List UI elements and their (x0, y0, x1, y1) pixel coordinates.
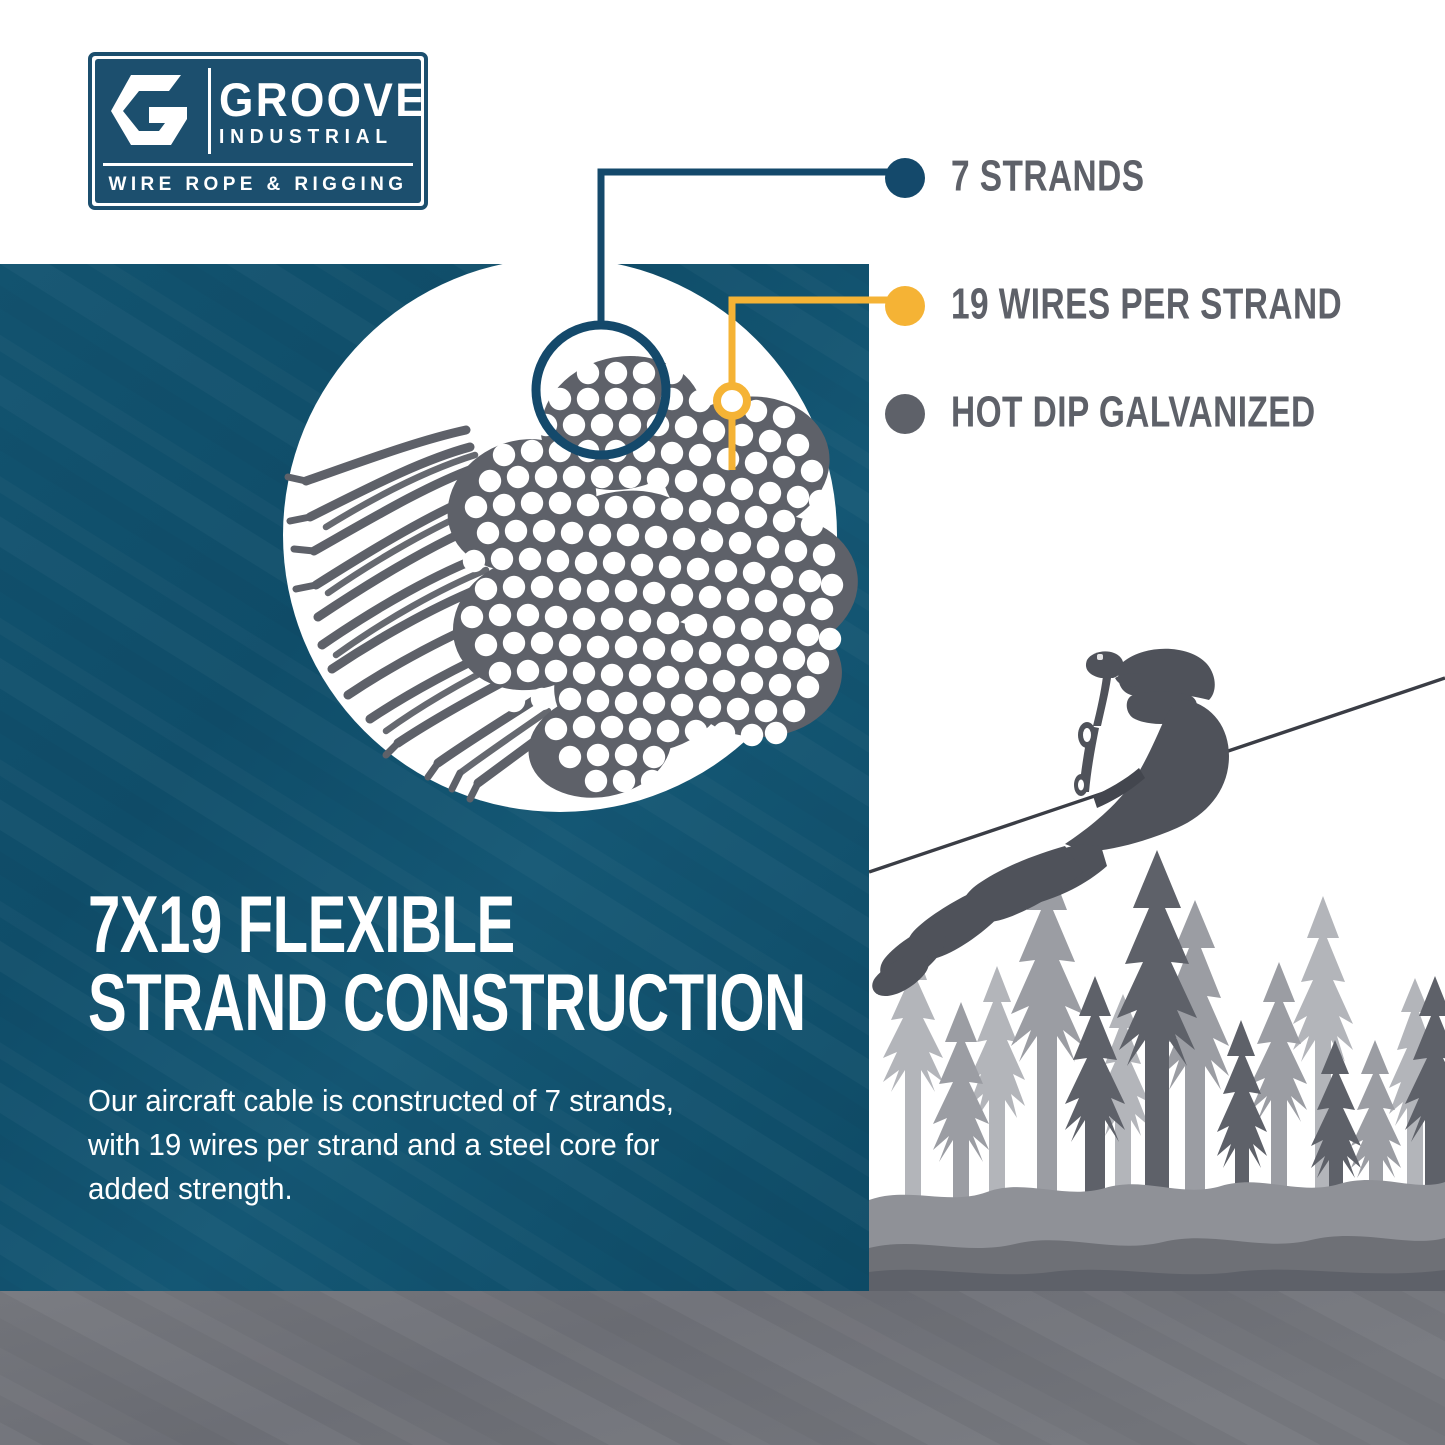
bottom-gray-bar (0, 1291, 1445, 1445)
callout-row-galvanized: HOT DIP GALVANIZED (885, 392, 1365, 435)
leader-line-strands (601, 172, 920, 327)
callout-row-strands: 7 STRANDS (885, 156, 1171, 199)
leader-anchor-wires (717, 386, 747, 416)
infographic-canvas: GROOVE INDUSTRIAL WIRE ROPE & RIGGING (0, 0, 1445, 1445)
callout-label-galvanized: HOT DIP GALVANIZED (951, 389, 1316, 438)
callout-label-wires: 19 WIRES PER STRAND (951, 281, 1342, 330)
callout-label-strands: 7 STRANDS (951, 153, 1144, 202)
callout-dot-galvanized (885, 394, 925, 434)
callout-row-wires: 19 WIRES PER STRAND (885, 284, 1395, 327)
callout-list: 7 STRANDS 19 WIRES PER STRAND HOT DIP GA… (885, 130, 1395, 460)
headline-line-2: STRAND CONSTRUCTION (88, 963, 739, 1041)
headline-line-1: 7X19 FLEXIBLE (88, 885, 739, 963)
callout-dot-strands (885, 158, 925, 198)
page-title: 7X19 FLEXIBLE STRAND CONSTRUCTION (88, 885, 739, 1041)
body-paragraph: Our aircraft cable is constructed of 7 s… (88, 1079, 715, 1211)
zipline-forest-scene (869, 600, 1445, 1291)
callout-dot-wires (885, 286, 925, 326)
main-text-block: 7X19 FLEXIBLE STRAND CONSTRUCTION Our ai… (88, 885, 828, 1211)
